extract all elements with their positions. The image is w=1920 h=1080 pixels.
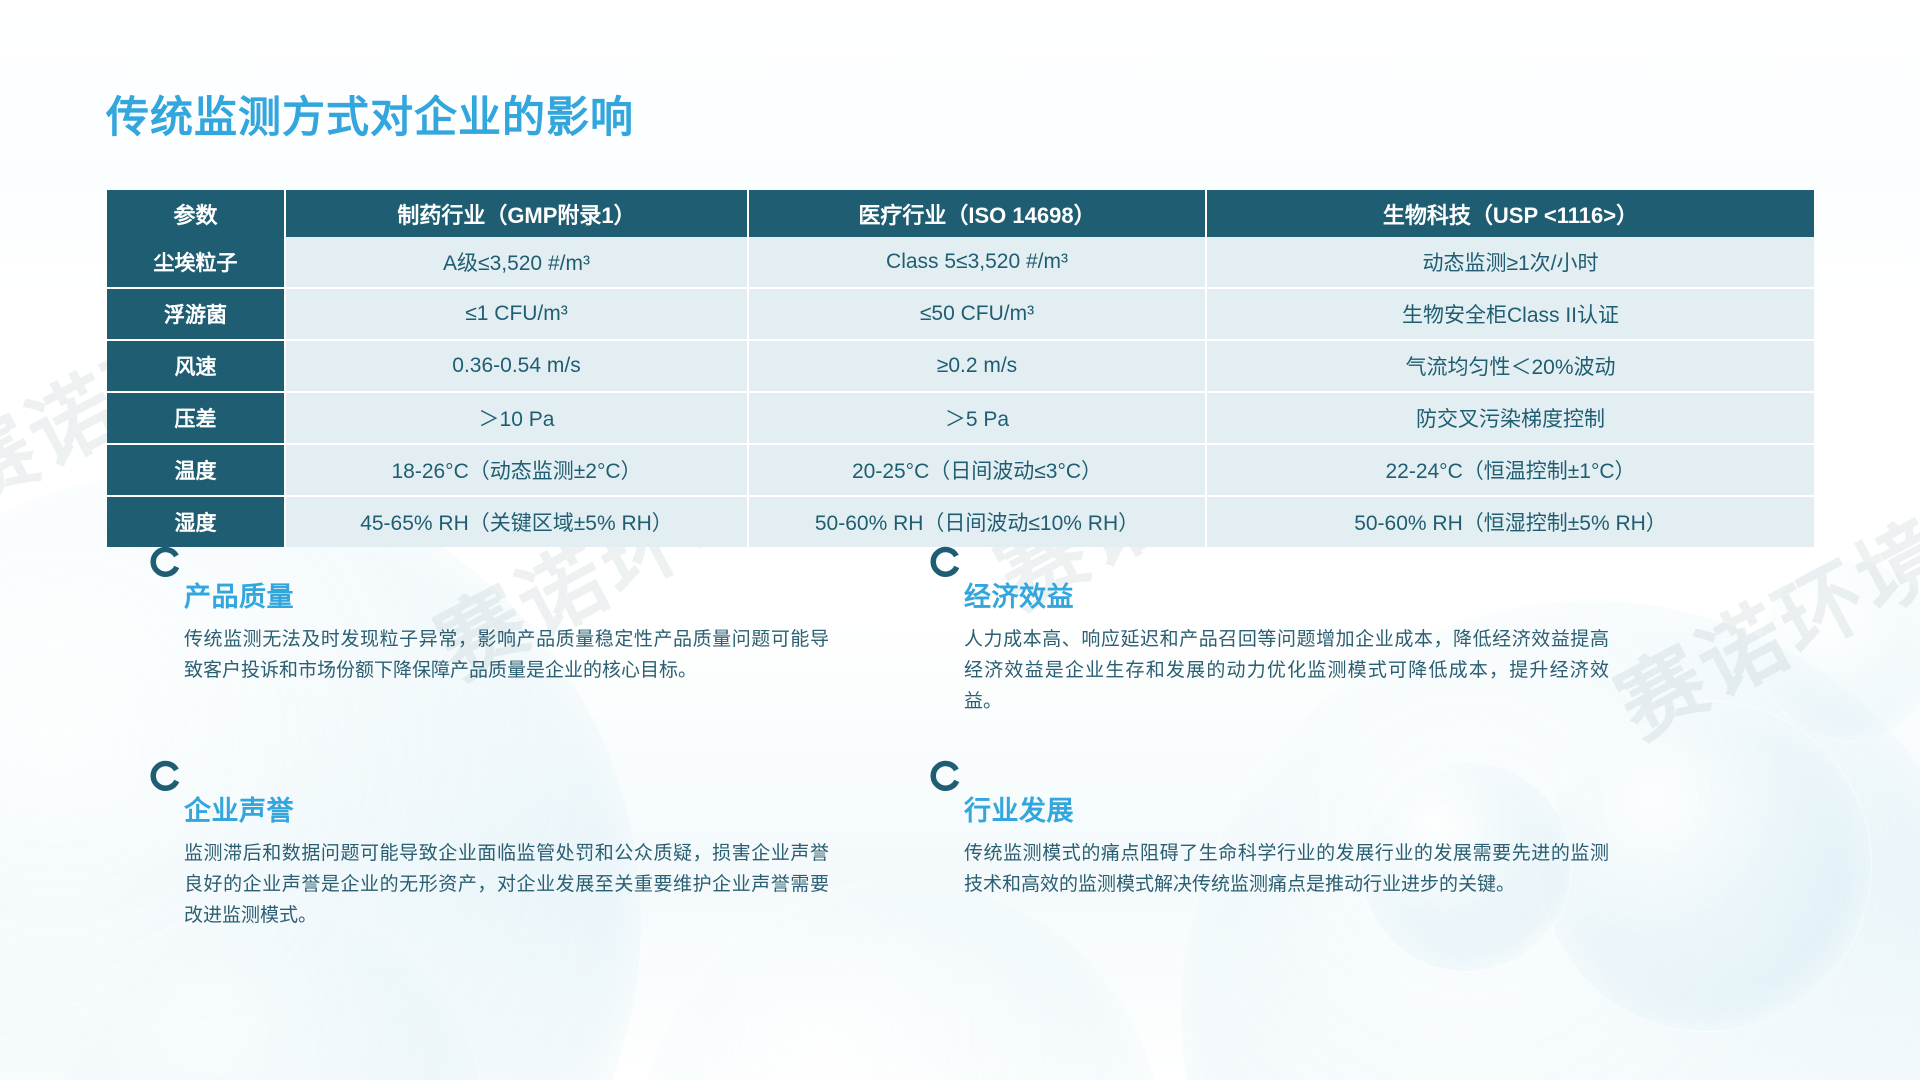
table-row: 压差 ＞10 Pa ＞5 Pa 防交叉污染梯度控制	[107, 392, 1814, 444]
card-heading: 经济效益	[948, 556, 1608, 611]
circle-arc-icon	[930, 544, 964, 578]
card-heading-label: 企业声誉	[184, 796, 294, 826]
impact-card-economic-benefit: 经济效益 人力成本高、响应延迟和产品召回等问题增加企业成本，降低经济效益提高经济…	[948, 556, 1608, 717]
row-label: 尘埃粒子	[107, 237, 285, 288]
column-header-biotech: 生物科技（USP <1116>）	[1206, 190, 1814, 237]
row-label: 湿度	[107, 496, 285, 547]
cell-pharma: 45-65% RH（关键区域±5% RH）	[285, 496, 748, 547]
column-header-pharma: 制药行业（GMP附录1）	[285, 190, 748, 237]
row-label: 浮游菌	[107, 288, 285, 340]
cell-medical: ≥0.2 m/s	[748, 340, 1206, 392]
circle-arc-icon	[150, 758, 184, 792]
bubble-decoration	[1760, 560, 1920, 742]
cell-biotech: 22-24°C（恒温控制±1°C）	[1206, 444, 1814, 496]
cell-medical: Class 5≤3,520 #/m³	[748, 237, 1206, 288]
specification-table: 参数 制药行业（GMP附录1） 医疗行业（ISO 14698） 生物科技（USP…	[107, 190, 1814, 547]
card-body-text: 传统监测无法及时发现粒子异常，影响产品质量稳定性产品质量问题可能导致客户投诉和市…	[168, 625, 829, 687]
table-row: 尘埃粒子 A级≤3,520 #/m³ Class 5≤3,520 #/m³ 动态…	[107, 237, 1814, 288]
cell-biotech: 50-60% RH（恒湿控制±5% RH）	[1206, 496, 1814, 547]
cell-biotech: 生物安全柜Class II认证	[1206, 288, 1814, 340]
column-header-parameter: 参数	[107, 190, 285, 237]
impact-card-industry-development: 行业发展 传统监测模式的痛点阻碍了生命科学行业的发展行业的发展需要先进的监测技术…	[948, 770, 1608, 901]
impact-card-corporate-reputation: 企业声誉 监测滞后和数据问题可能导致企业面临监管处罚和公众质疑，损害企业声誉良好…	[168, 770, 828, 931]
card-heading: 产品质量	[168, 556, 828, 611]
card-body-text: 人力成本高、响应延迟和产品召回等问题增加企业成本，降低经济效益提高经济效益是企业…	[948, 625, 1609, 717]
impact-card-product-quality: 产品质量 传统监测无法及时发现粒子异常，影响产品质量稳定性产品质量问题可能导致客…	[168, 556, 828, 687]
card-heading-label: 经济效益	[964, 582, 1074, 612]
cell-medical: 20-25°C（日间波动≤3°C）	[748, 444, 1206, 496]
card-body-text: 监测滞后和数据问题可能导致企业面临监管处罚和公众质疑，损害企业声誉良好的企业声誉…	[168, 839, 829, 931]
circle-arc-icon	[930, 758, 964, 792]
page-title: 传统监测方式对企业的影响	[106, 95, 634, 142]
row-label: 风速	[107, 340, 285, 392]
cell-medical: ＞5 Pa	[748, 392, 1206, 444]
circle-arc-icon	[150, 544, 184, 578]
cell-biotech: 气流均匀性＜20%波动	[1206, 340, 1814, 392]
cell-pharma: 0.36-0.54 m/s	[285, 340, 748, 392]
column-header-medical: 医疗行业（ISO 14698）	[748, 190, 1206, 237]
cell-pharma: ≤1 CFU/m³	[285, 288, 748, 340]
card-heading-label: 产品质量	[184, 582, 294, 612]
row-label: 压差	[107, 392, 285, 444]
cell-pharma: 18-26°C（动态监测±2°C）	[285, 444, 748, 496]
row-label: 温度	[107, 444, 285, 496]
cell-medical: ≤50 CFU/m³	[748, 288, 1206, 340]
cell-medical: 50-60% RH（日间波动≤10% RH）	[748, 496, 1206, 547]
table-row: 温度 18-26°C（动态监测±2°C） 20-25°C（日间波动≤3°C） 2…	[107, 444, 1814, 496]
table-header-row: 参数 制药行业（GMP附录1） 医疗行业（ISO 14698） 生物科技（USP…	[107, 190, 1814, 237]
table-row: 浮游菌 ≤1 CFU/m³ ≤50 CFU/m³ 生物安全柜Class II认证	[107, 288, 1814, 340]
table-row: 湿度 45-65% RH（关键区域±5% RH） 50-60% RH（日间波动≤…	[107, 496, 1814, 547]
cell-pharma: ＞10 Pa	[285, 392, 748, 444]
card-heading: 企业声誉	[168, 770, 828, 825]
card-heading: 行业发展	[948, 770, 1608, 825]
cell-biotech: 防交叉污染梯度控制	[1206, 392, 1814, 444]
card-body-text: 传统监测模式的痛点阻碍了生命科学行业的发展行业的发展需要先进的监测技术和高效的监…	[948, 839, 1609, 901]
table-row: 风速 0.36-0.54 m/s ≥0.2 m/s 气流均匀性＜20%波动	[107, 340, 1814, 392]
cell-pharma: A级≤3,520 #/m³	[285, 237, 748, 288]
card-heading-label: 行业发展	[964, 796, 1074, 826]
cell-biotech: 动态监测≥1次/小时	[1206, 237, 1814, 288]
